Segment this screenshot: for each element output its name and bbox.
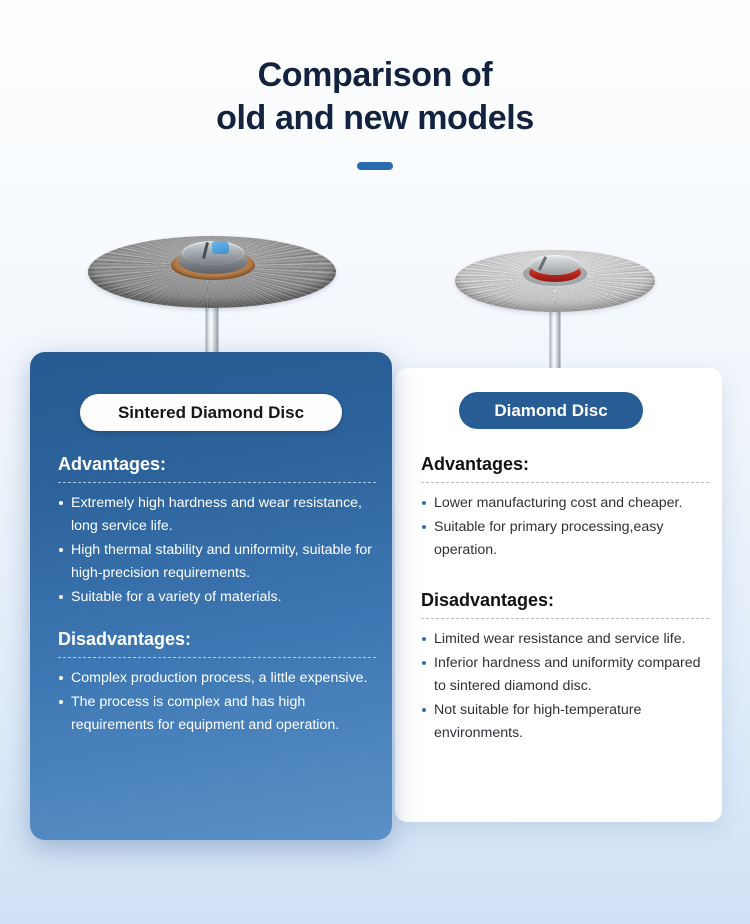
list-item: Complex production process, a little exp… bbox=[58, 667, 376, 690]
page-title-line-1: Comparison of bbox=[0, 54, 750, 97]
list-item: Limited wear resistance and service life… bbox=[421, 628, 709, 651]
disadvantages-heading: Disadvantages: bbox=[421, 588, 709, 612]
diamond-disc-pill: Diamond Disc bbox=[459, 392, 643, 429]
advantages-divider bbox=[58, 482, 376, 483]
list-item: Inferior hardness and uniformity compare… bbox=[421, 652, 709, 698]
advantages-heading: Advantages: bbox=[58, 452, 376, 476]
advantages-list: Lower manufacturing cost and cheaper.Sui… bbox=[421, 492, 709, 562]
page-header: Comparison of old and new models bbox=[0, 0, 750, 170]
list-item: Not suitable for high-temperature enviro… bbox=[421, 699, 709, 745]
list-item: The process is complex and has high requ… bbox=[58, 691, 376, 737]
list-item: Lower manufacturing cost and cheaper. bbox=[421, 492, 709, 515]
sintered-diamond-disc-pill-label: Sintered Diamond Disc bbox=[118, 403, 304, 423]
diamond-disc-image bbox=[455, 250, 655, 376]
diamond-disc-card: Diamond Disc Advantages: Lower manufactu… bbox=[395, 368, 722, 822]
list-item: High thermal stability and uniformity, s… bbox=[58, 539, 376, 585]
disadvantages-list: Complex production process, a little exp… bbox=[58, 667, 376, 737]
section-gap bbox=[58, 610, 376, 627]
page-title-line-2: old and new models bbox=[0, 97, 750, 140]
disadvantages-divider bbox=[421, 618, 709, 619]
list-item: Suitable for primary processing,easy ope… bbox=[421, 516, 709, 562]
disadvantages-divider bbox=[58, 657, 376, 658]
disc-stem bbox=[550, 304, 561, 376]
sintered-diamond-disc-card: Sintered Diamond Disc Advantages: Extrem… bbox=[30, 352, 392, 840]
sintered-diamond-disc-pill: Sintered Diamond Disc bbox=[80, 394, 342, 431]
advantages-heading: Advantages: bbox=[421, 452, 709, 476]
list-item: Suitable for a variety of materials. bbox=[58, 586, 376, 609]
disadvantages-list: Limited wear resistance and service life… bbox=[421, 628, 709, 745]
disadvantages-heading: Disadvantages: bbox=[58, 627, 376, 651]
list-item: Extremely high hardness and wear resista… bbox=[58, 492, 376, 538]
advantages-list: Extremely high hardness and wear resista… bbox=[58, 492, 376, 609]
diamond-disc-content: Advantages: Lower manufacturing cost and… bbox=[421, 452, 709, 746]
advantages-divider bbox=[421, 482, 709, 483]
diamond-disc-pill-label: Diamond Disc bbox=[494, 401, 607, 421]
disc-hub-accent-chip bbox=[212, 241, 229, 254]
disc-hub-cap bbox=[530, 255, 580, 275]
section-gap bbox=[421, 563, 709, 588]
sintered-diamond-disc-content: Advantages: Extremely high hardness and … bbox=[58, 452, 376, 738]
title-accent-dash bbox=[357, 162, 393, 170]
